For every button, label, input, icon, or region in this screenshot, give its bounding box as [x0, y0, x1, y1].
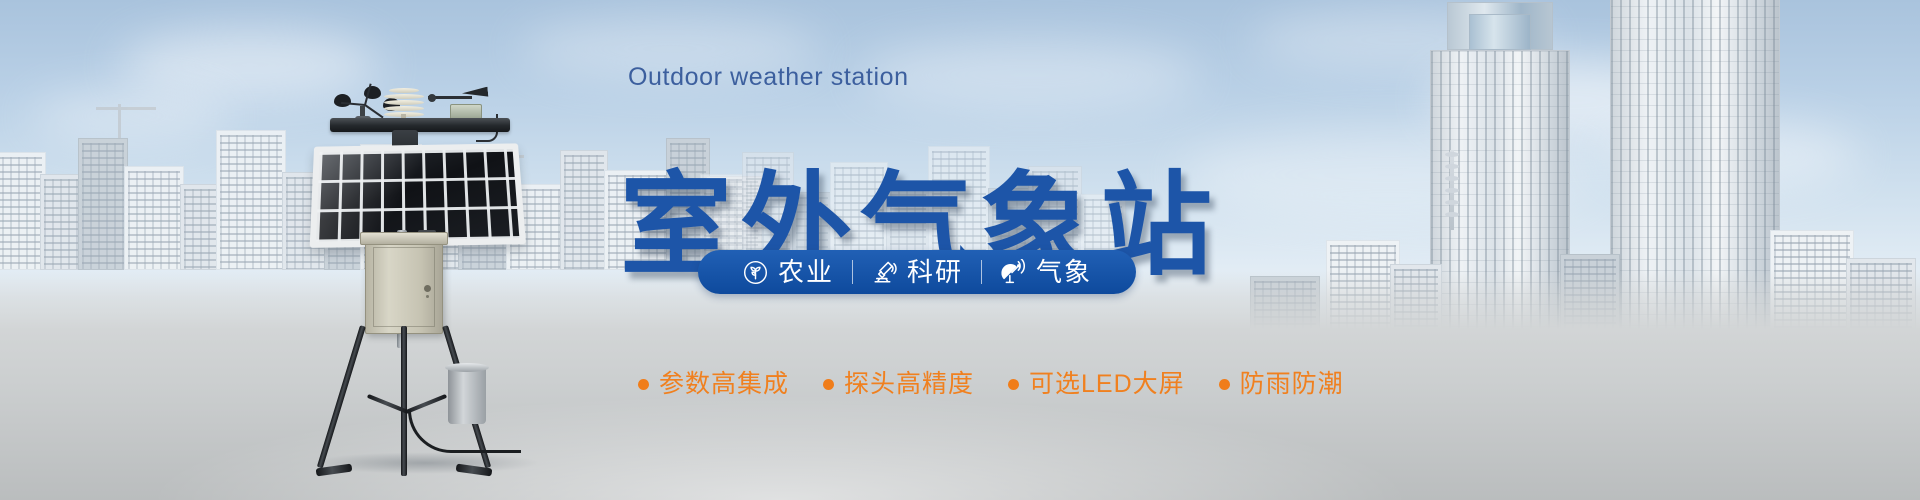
antenna-icon [1445, 150, 1459, 230]
pill-label-agriculture: 农业 [778, 259, 834, 285]
sprout-circle-icon [742, 259, 769, 286]
pill-item-research[interactable]: 科研 [853, 259, 981, 286]
bullet-dot-icon [823, 379, 834, 390]
feature-item-1: 参数高集成 [638, 372, 789, 397]
eyebrow-text: Outdoor weather station [628, 63, 909, 92]
feature-label-4: 防雨防潮 [1240, 372, 1344, 397]
feature-item-3: 可选LED大屏 [1008, 372, 1185, 397]
feature-label-3: 可选LED大屏 [1029, 372, 1185, 397]
feature-label-2: 探头高精度 [844, 372, 974, 397]
pill-item-agriculture[interactable]: 农业 [724, 259, 852, 286]
microscope-icon [871, 259, 898, 286]
satellite-dish-icon [1000, 259, 1027, 286]
cross-arm [330, 118, 510, 132]
tripod-leg-center [401, 326, 407, 476]
bullet-dot-icon [638, 379, 649, 390]
feature-item-4: 防雨防潮 [1219, 372, 1344, 397]
bullet-dot-icon [1219, 379, 1230, 390]
feature-item-2: 探头高精度 [823, 372, 974, 397]
feature-label-1: 参数高集成 [659, 372, 789, 397]
pill-item-meteorology[interactable]: 气象 [982, 259, 1110, 286]
weather-station-product-image [300, 80, 560, 500]
application-pill: 农业 科研 [698, 250, 1136, 294]
bullet-dot-icon [1008, 379, 1019, 390]
product-banner: Outdoor weather station 室外气象站 农业 [0, 0, 1920, 500]
pill-label-research: 科研 [907, 259, 963, 285]
feature-list: 参数高集成 探头高精度 可选LED大屏 防雨防潮 [638, 372, 1344, 397]
pill-label-meteorology: 气象 [1036, 259, 1092, 285]
control-cabinet [365, 240, 443, 334]
tripod-leg-left [317, 325, 366, 468]
copy-block: Outdoor weather station 室外气象站 农业 [620, 0, 1300, 500]
ground-cable [408, 410, 521, 453]
radiation-shield [384, 88, 424, 118]
